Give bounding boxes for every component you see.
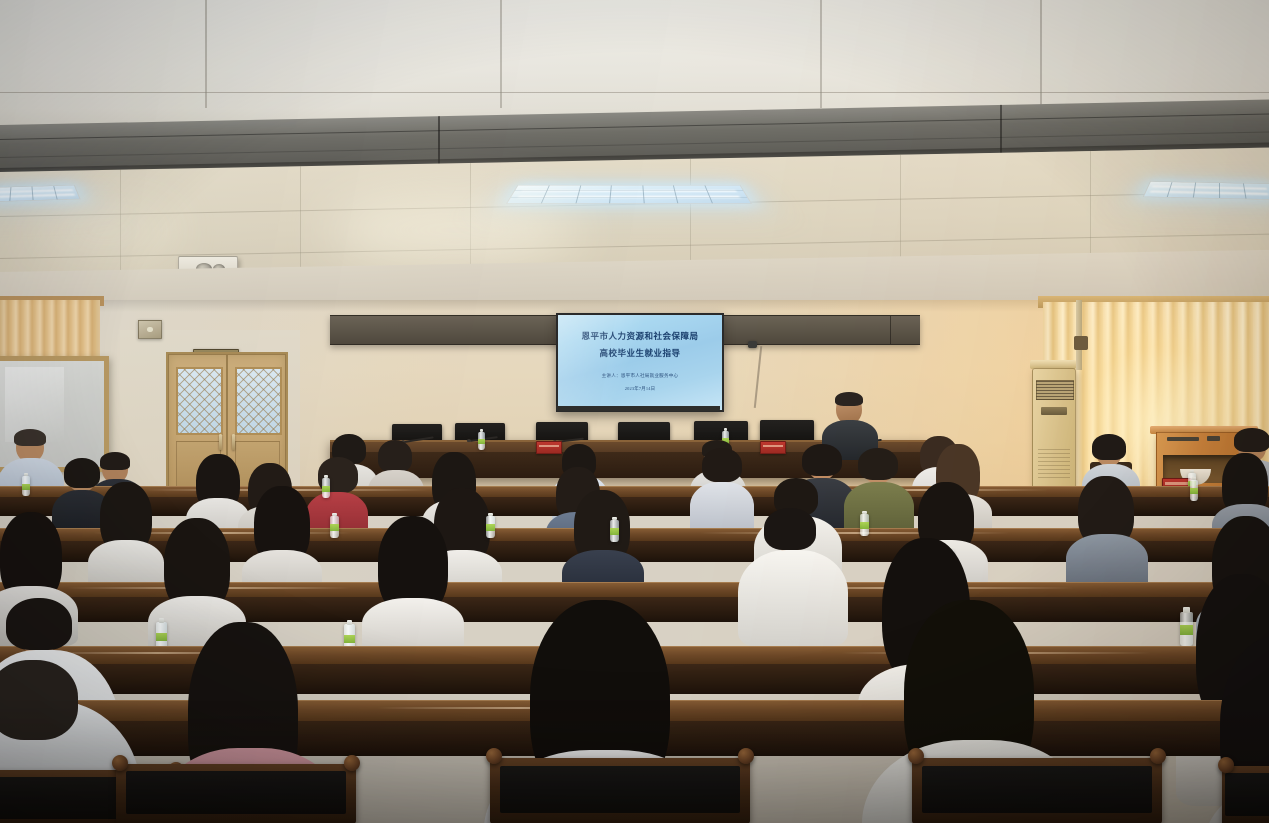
ceiling-light-glow-left	[30, 205, 180, 255]
audience-bench[interactable]	[116, 764, 356, 823]
water-bottle	[22, 476, 30, 496]
water-bottle	[1180, 612, 1193, 646]
table-nameplate	[536, 441, 562, 454]
projection-screen-surface: 恩平市人力资源和社会保障局 高校毕业生就业指导 主讲人：恩平市人社局就业服务中心…	[558, 315, 722, 410]
air-conditioner[interactable]	[1032, 368, 1076, 488]
ceiling-light-fixture-right	[1143, 181, 1269, 200]
table-nameplate	[760, 441, 786, 454]
water-bottle	[860, 514, 869, 536]
ceiling-upper-panels	[0, 0, 1269, 118]
water-bottle	[610, 520, 619, 542]
ceiling-light-fixture-center	[506, 185, 752, 204]
projection-screen: 恩平市人力资源和社会保障局 高校毕业生就业指导 主讲人：恩平市人社局就业服务中心…	[556, 313, 724, 412]
water-bottle	[478, 432, 485, 450]
water-bottle	[330, 516, 339, 538]
audience-bench[interactable]	[490, 758, 750, 823]
water-bottle	[1190, 480, 1198, 501]
ac-wall-pipe	[1076, 300, 1082, 370]
slide-title-line2: 高校毕业生就业指导	[558, 347, 722, 359]
presenter-hair	[835, 392, 863, 406]
ceiling-light-fixture-left	[0, 185, 81, 202]
ceiling-light-glow-center	[330, 195, 580, 265]
slide-subtitle: 主讲人：恩平市人社局就业服务中心	[558, 373, 722, 379]
audience-bench[interactable]	[912, 758, 1162, 823]
ac-wall-box	[1074, 336, 1088, 350]
slide-title-line1: 恩平市人力资源和社会保障局	[558, 330, 722, 342]
ceiling-camera	[748, 341, 757, 348]
water-bottle	[322, 478, 330, 498]
water-bottle	[486, 516, 495, 538]
screen-bottom-bar	[556, 406, 720, 411]
slide-date: 2023年7月14日	[558, 386, 722, 392]
wall-vent-left	[138, 320, 162, 339]
conference-hall-photo: 恩平市人力资源和社会保障局 高校毕业生就业指导 主讲人：恩平市人社局就业服务中心…	[0, 0, 1269, 823]
audience-bench[interactable]	[1222, 766, 1269, 823]
whiteboard	[0, 356, 109, 472]
